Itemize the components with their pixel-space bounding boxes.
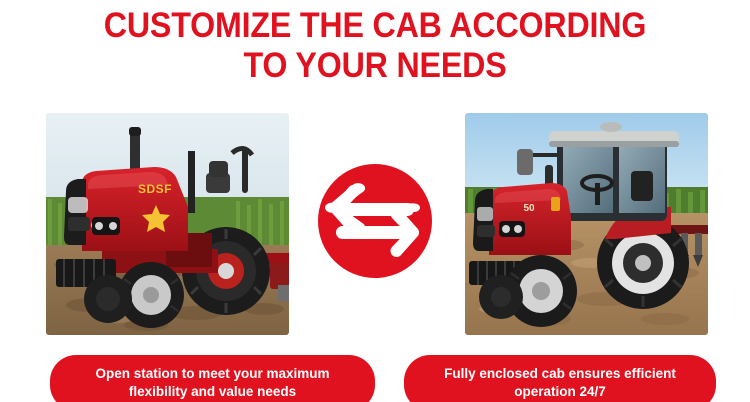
caption-enclosed-cab: Fully enclosed cab ensures efficient ope… — [404, 355, 716, 402]
caption-enclosed-cab-line-2: operation 24/7 — [444, 383, 676, 401]
caption-open-station-line-1: Open station to meet your maximum — [95, 365, 329, 383]
headline-line-2: TO YOUR NEEDS — [30, 46, 720, 86]
headline-line-1: CUSTOMIZE THE CAB ACCORDING — [30, 6, 720, 46]
swap-horizontal-arrows-icon — [318, 164, 432, 278]
promo-banner: CUSTOMIZE THE CAB ACCORDING TO YOUR NEED… — [0, 0, 750, 402]
svg-text:SDSF: SDSF — [138, 182, 172, 196]
swap-compare-badge[interactable] — [318, 164, 432, 278]
caption-enclosed-cab-line-1: Fully enclosed cab ensures efficient — [444, 365, 676, 383]
caption-open-station-line-2: flexibility and value needs — [95, 383, 329, 401]
open-station-tractor-illustration: SDSF — [46, 113, 289, 335]
svg-text:50: 50 — [523, 203, 535, 214]
enclosed-cab-tractor-illustration: 50 — [465, 113, 708, 335]
open-station-tractor-photo: SDSF — [46, 113, 289, 335]
page-title: CUSTOMIZE THE CAB ACCORDING TO YOUR NEED… — [30, 6, 720, 86]
enclosed-cab-tractor-photo: 50 — [465, 113, 708, 335]
caption-open-station: Open station to meet your maximum flexib… — [50, 355, 375, 402]
